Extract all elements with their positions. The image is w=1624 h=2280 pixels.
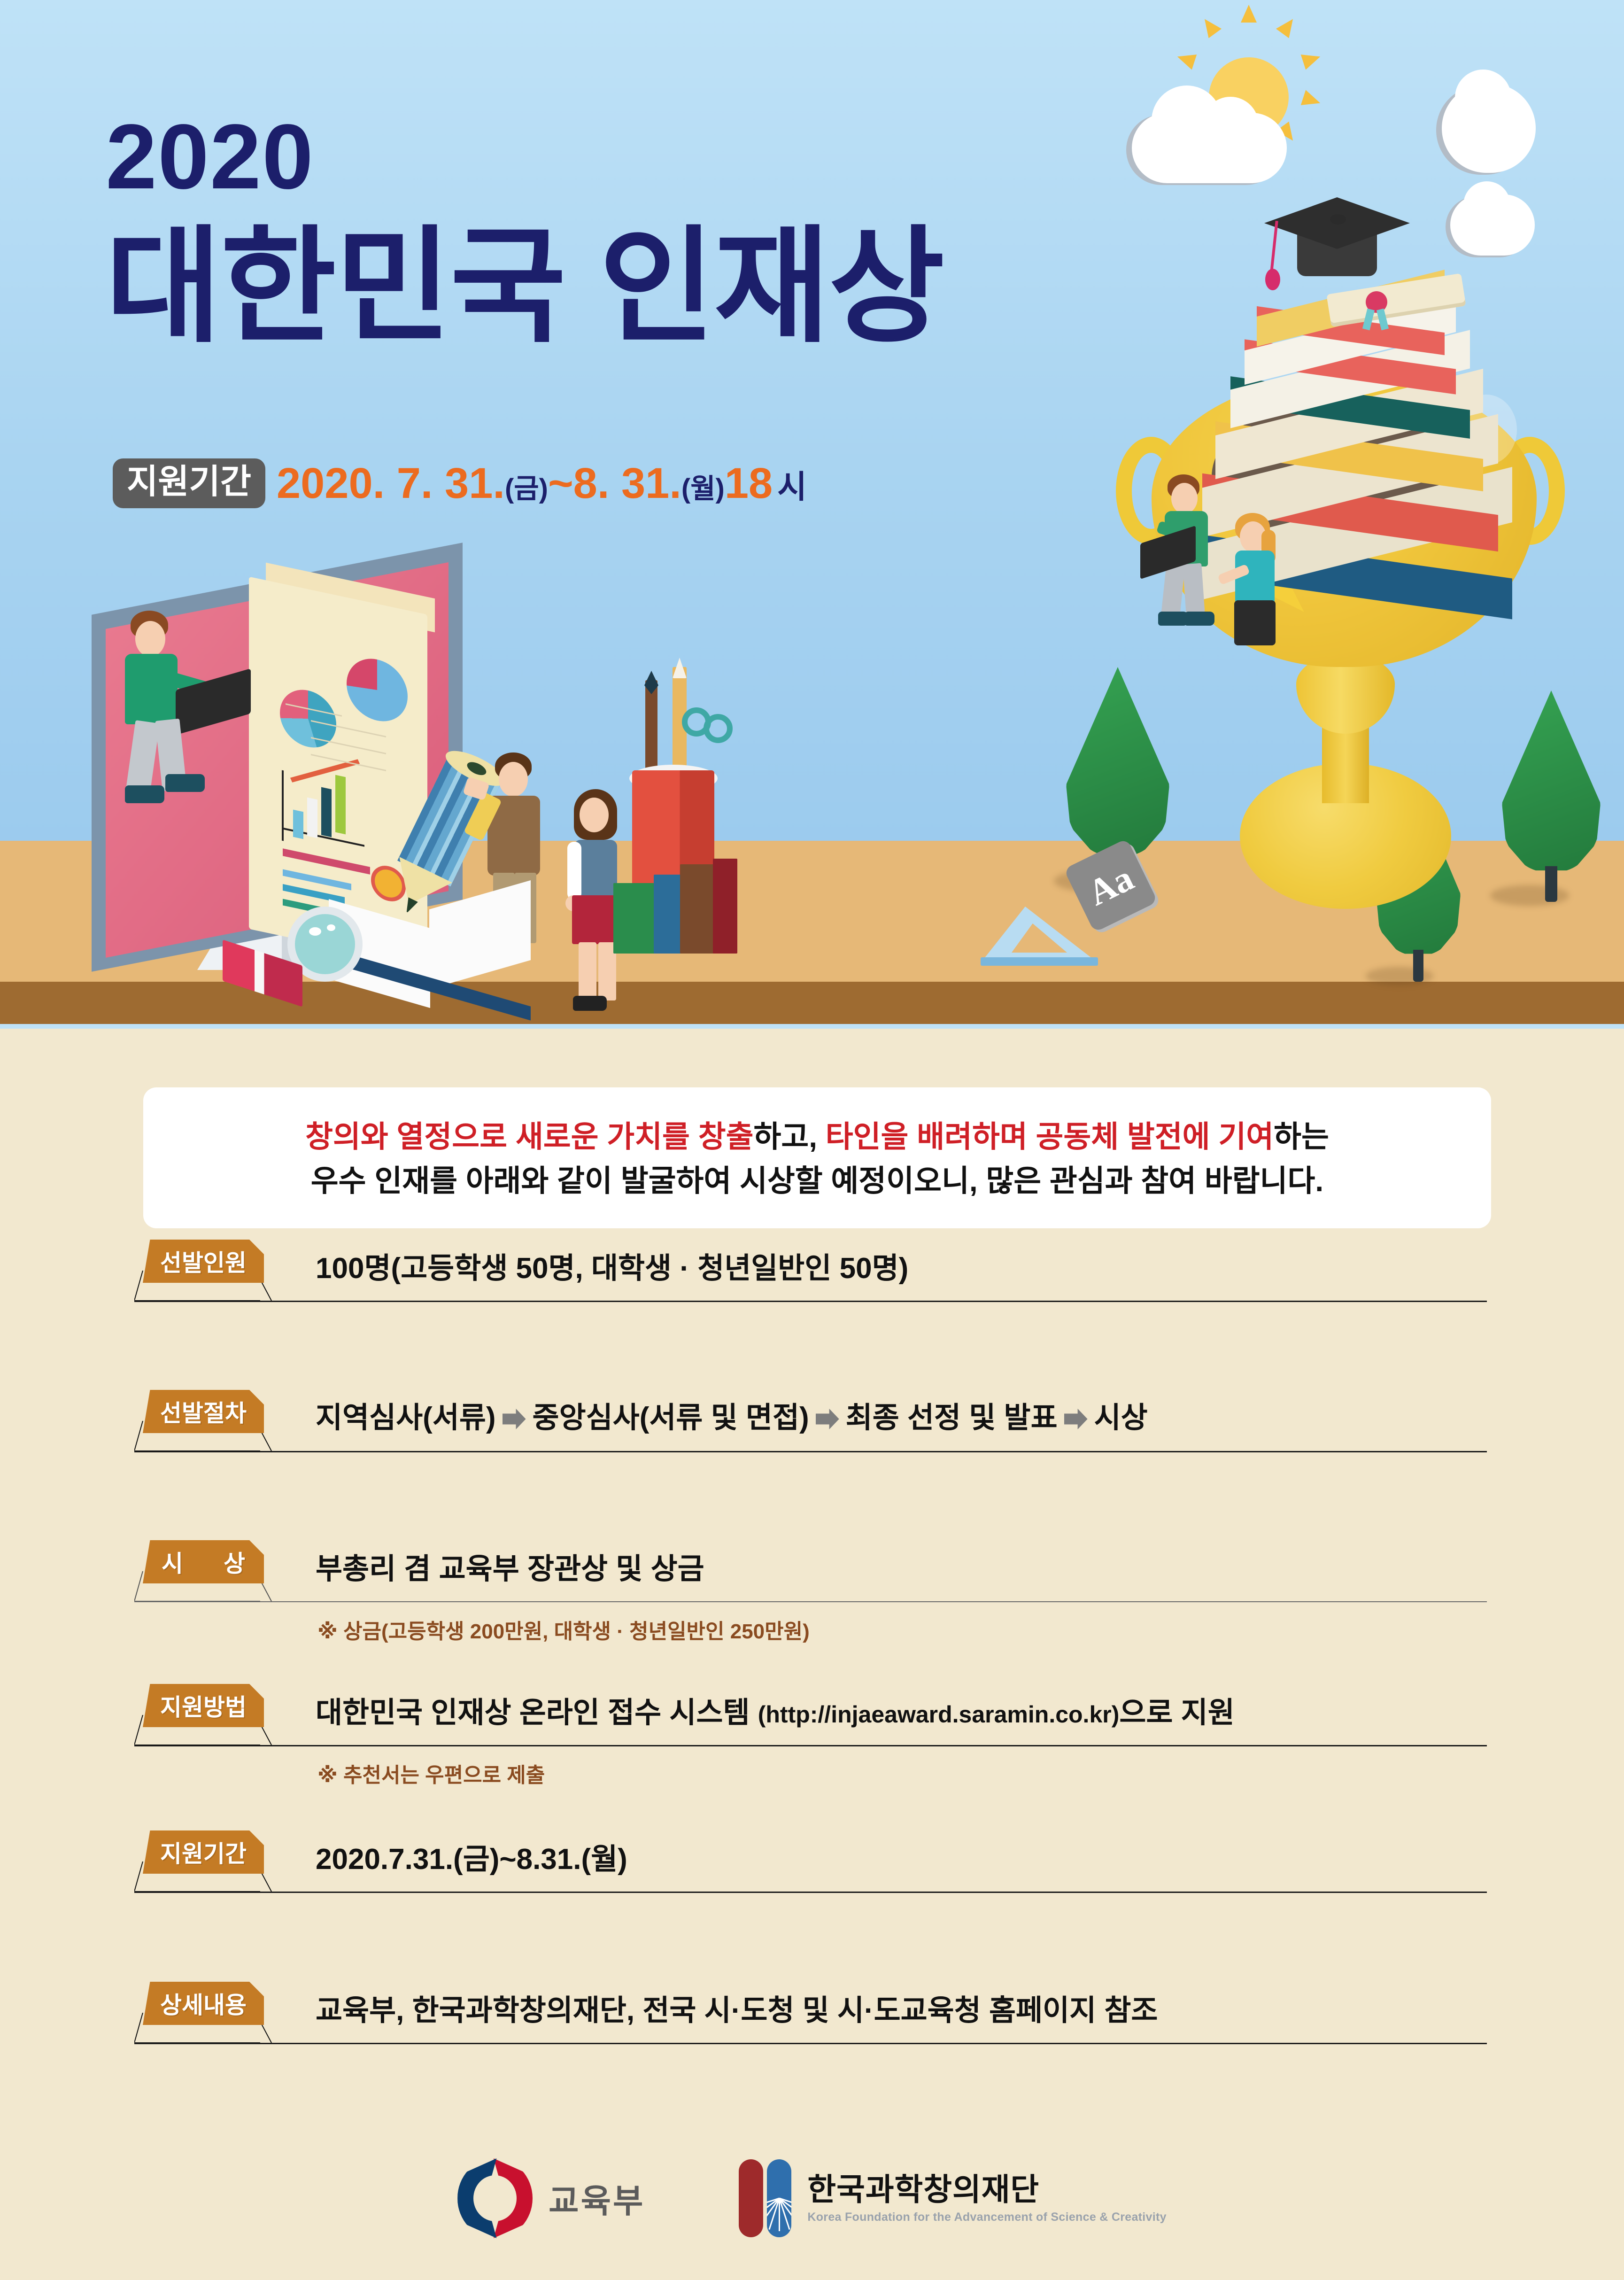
hero-illustration: Aa 2020 대한민국 인재상 지원기간 2020. 7. 31. (금) ~… (0, 0, 1624, 1024)
process-step-3: 최종 선정 및 발표 (846, 1402, 1058, 1434)
kofac-text-block: 한국과학창의재단 Korea Foundation for the Advanc… (807, 2172, 1166, 2224)
intro-message-box: 창의와 열정으로 새로운 가치를 창출하고, 타인을 배려하며 공동체 발전에 … (143, 1087, 1491, 1228)
period-day-friday: (금) (505, 475, 548, 503)
period-date-end: ~8. 31. (548, 462, 681, 505)
row-value-application-period: 2020.7.31.(금)~8.31.(월) (316, 1835, 627, 1877)
hero-title-block: 2020 대한민국 인재상 (106, 111, 943, 353)
application-method-pre: 대한민국 인재상 온라인 접수 시스템 (316, 1697, 758, 1729)
row-value-selection-process: 지역심사(서류)중앙심사(서류 및 면접)최종 선정 및 발표시상 (316, 1394, 1148, 1436)
kofac-name-en: Korea Foundation for the Advancement of … (807, 2210, 1166, 2224)
row-label-text: 지원방법 (143, 1684, 264, 1727)
application-period-line: 지원기간 2020. 7. 31. (금) ~8. 31. (월) 18 시 (113, 458, 807, 508)
logo-ministry-of-education: 교육부 (457, 2158, 645, 2238)
application-url[interactable]: (http://injaeaward.saramin.co.kr) (758, 1701, 1120, 1728)
intro-plain-1: 하고, (753, 1120, 825, 1154)
info-section: 창의와 열정으로 새로운 가치를 창출하고, 타인을 배려하며 공동체 발전에 … (0, 1029, 1624, 2280)
row-label-text: 지원기간 (143, 1830, 264, 1874)
row-rule-3 (134, 1601, 1487, 1602)
page-title: 대한민국 인재상 (106, 220, 943, 353)
row-value-award: 부총리 겸 교육부 장관상 및 상금 (316, 1545, 704, 1587)
row-value-details: 교육부, 한국과학창의재단, 전국 시·도청 및 시·도교육청 홈페이지 참조 (316, 1986, 1158, 2029)
row-label-text: 시 상 (143, 1540, 264, 1583)
row-rule-4 (134, 1745, 1487, 1746)
tree-icon-2 (1502, 690, 1601, 902)
year-label: 2020 (106, 111, 943, 203)
ground-edge-band (0, 982, 1624, 1024)
row-label-text: 선발인원 (143, 1240, 264, 1283)
period-date-start: 2020. 7. 31. (277, 462, 505, 505)
row-rule-1 (134, 1301, 1487, 1302)
application-method-post: 으로 지원 (1119, 1697, 1234, 1729)
period-day-monday: (월) (681, 475, 725, 503)
row-note-application-method: ※ 추천서는 우편으로 제출 (317, 1758, 545, 1788)
arrow-right-icon-3 (1064, 1409, 1088, 1429)
row-label-badge-application-method: 지원방법 (143, 1684, 264, 1727)
intro-plain-2: 하는 (1274, 1120, 1329, 1154)
kofac-mark-icon (739, 2159, 791, 2237)
row-value-selection-count: 100명(고등학생 50명, 대학생 · 청년일반인 50명) (316, 1244, 908, 1287)
row-label-badge-selection-process: 선발절차 (143, 1390, 264, 1433)
row-note-award: ※ 상금(고등학생 200만원, 대학생 · 청년일반인 250만원) (317, 1614, 810, 1644)
ruler-icon (981, 907, 1098, 963)
row-label-text: 선발절차 (143, 1390, 264, 1433)
period-hour: 18 (725, 462, 773, 505)
logo-kofac: 한국과학창의재단 Korea Foundation for the Advanc… (739, 2159, 1166, 2237)
process-step-2: 중앙심사(서류 및 면접) (533, 1402, 809, 1434)
period-date-text: 2020. 7. 31. (금) ~8. 31. (월) 18 시 (277, 462, 807, 505)
moe-taegeuk-icon (457, 2158, 533, 2238)
intro-highlight-2: 타인을 배려하며 공동체 발전에 기여 (826, 1120, 1274, 1154)
row-rule-6 (134, 2043, 1487, 2044)
process-step-4: 시상 (1094, 1402, 1148, 1434)
row-label-badge-award: 시 상 (143, 1540, 264, 1583)
intro-message-line1: 창의와 열정으로 새로운 가치를 창출하고, 타인을 배려하며 공동체 발전에 … (176, 1118, 1458, 1155)
row-rule-5 (134, 1892, 1487, 1893)
row-rule-2 (134, 1451, 1487, 1452)
period-hour-unit: 시 (777, 471, 807, 503)
moe-label: 교육부 (549, 2175, 645, 2222)
poster-root: Aa 2020 대한민국 인재상 지원기간 2020. 7. 31. (금) ~… (0, 0, 1624, 2280)
row-label-badge-selection-count: 선발인원 (143, 1240, 264, 1283)
arrow-right-icon-2 (816, 1409, 839, 1429)
arrow-right-icon-1 (503, 1409, 526, 1429)
row-label-text: 상세내용 (143, 1982, 264, 2025)
period-badge: 지원기간 (113, 458, 265, 508)
intro-message-line2: 우수 인재를 아래와 같이 발굴하여 시상할 예정이오니, 많은 관심과 참여 … (176, 1163, 1458, 1199)
kofac-name-kr: 한국과학창의재단 (807, 2172, 1166, 2207)
intro-highlight-1: 창의와 열정으로 새로운 가치를 창출 (305, 1120, 753, 1154)
section-divider-strip (0, 1024, 1624, 1029)
footer-logos: 교육부 (0, 2133, 1624, 2264)
process-step-1: 지역심사(서류) (316, 1402, 496, 1434)
row-label-badge-details: 상세내용 (143, 1982, 264, 2025)
row-label-badge-application-period: 지원기간 (143, 1830, 264, 1874)
row-value-application-method: 대한민국 인재상 온라인 접수 시스템 (http://injaeaward.s… (316, 1689, 1235, 1731)
